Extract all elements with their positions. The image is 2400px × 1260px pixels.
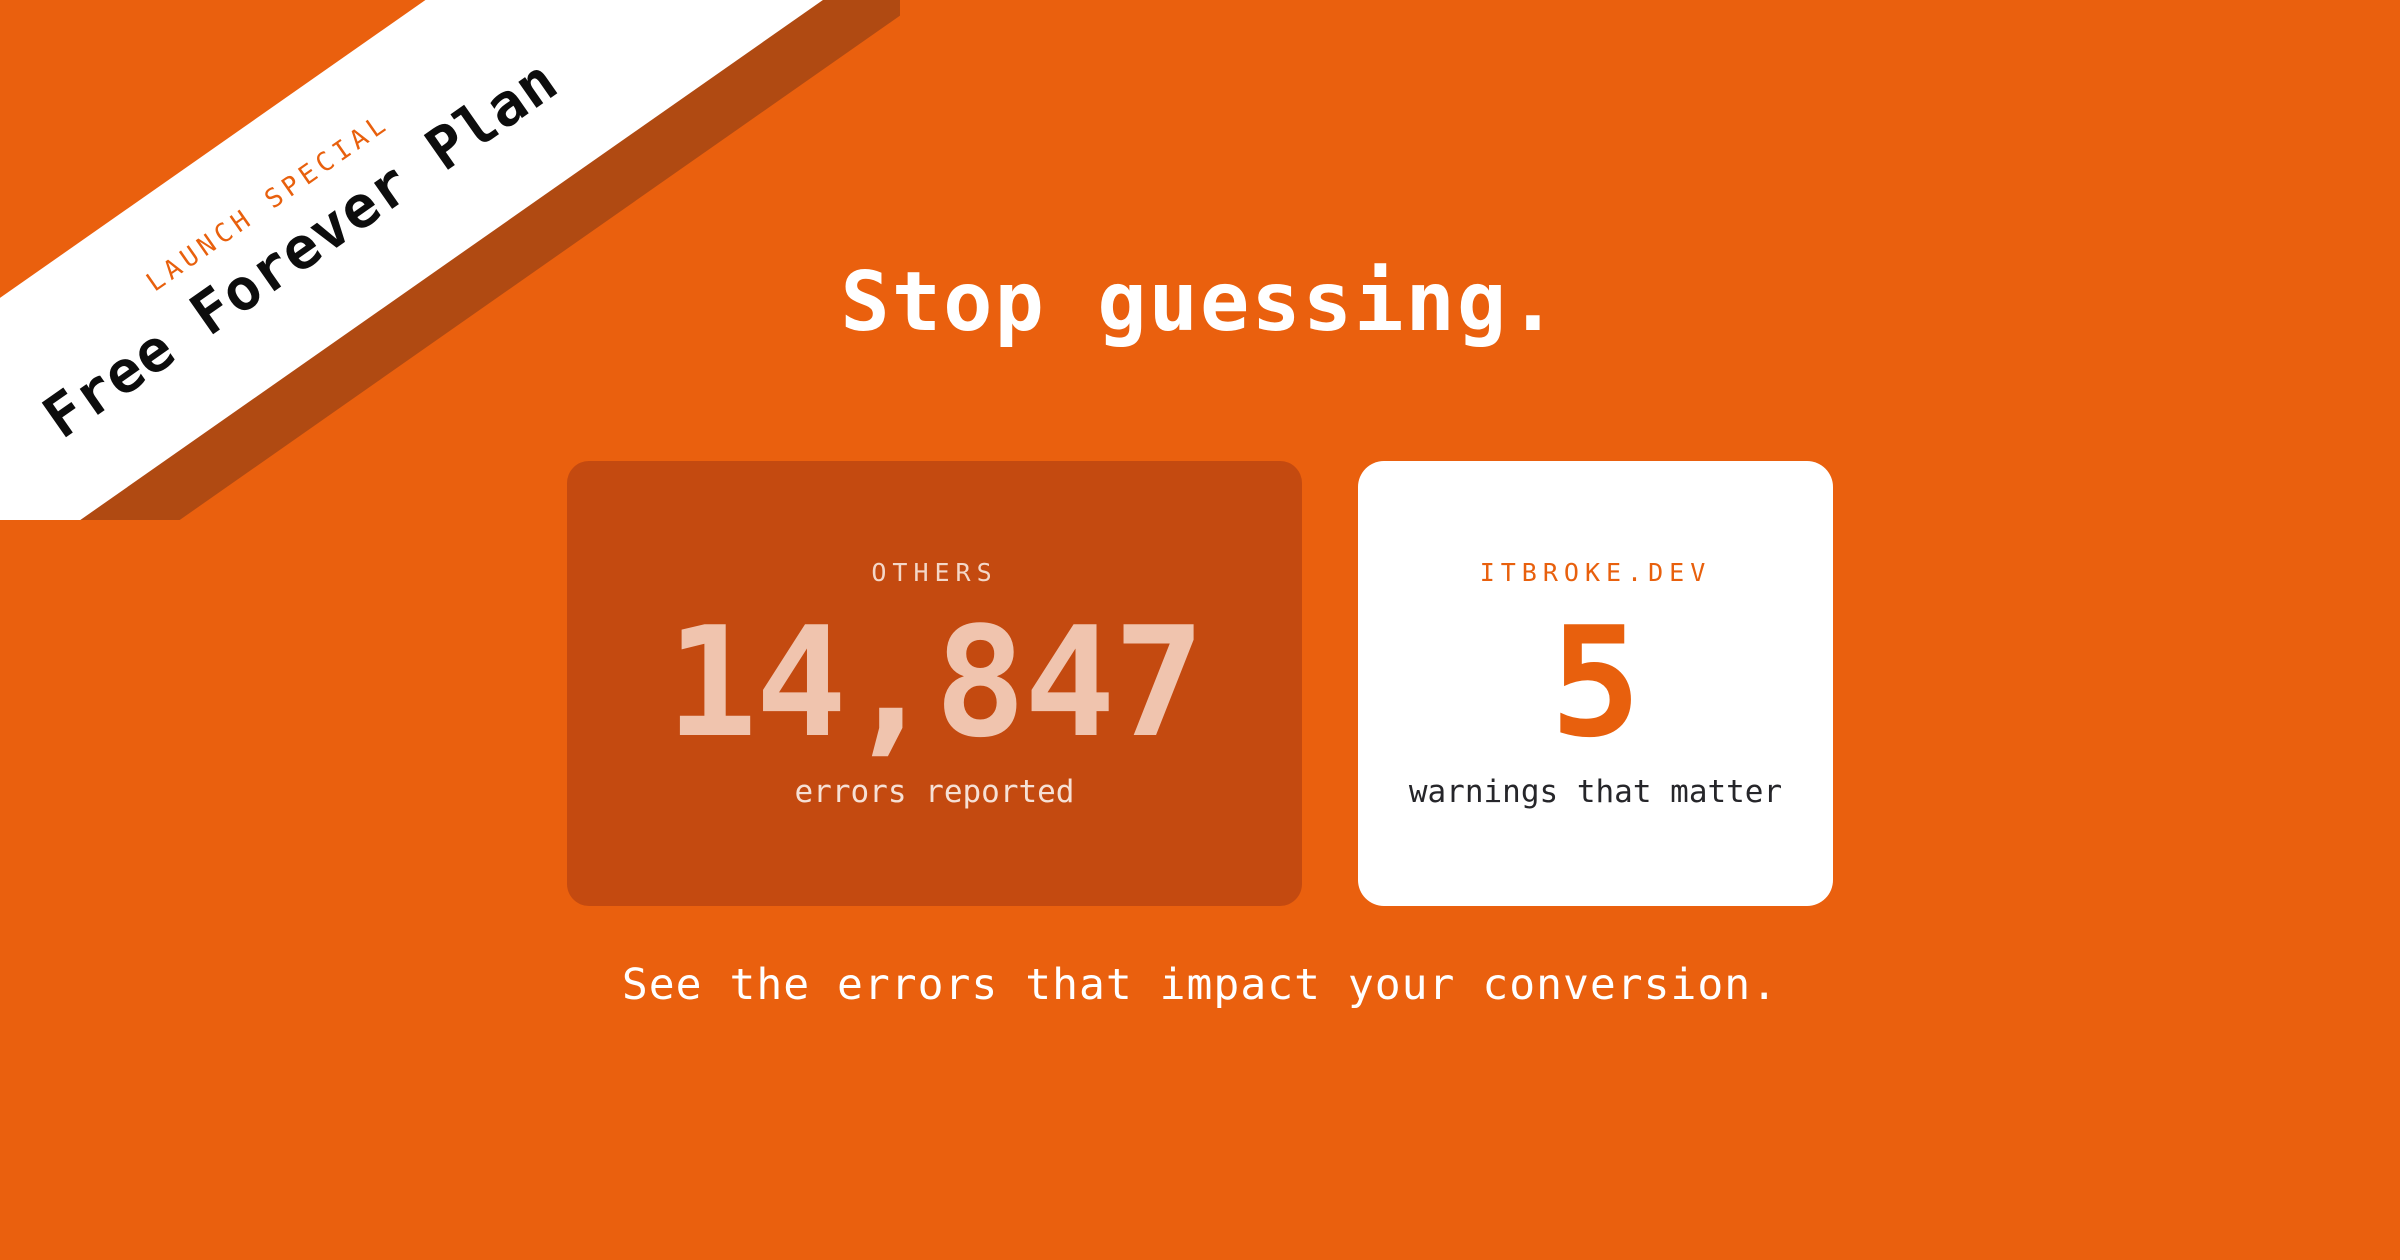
stat-card-label: ITBROKE.DEV xyxy=(1480,560,1712,585)
stat-card-caption: warnings that matter xyxy=(1409,777,1782,808)
stat-card-itbroke: ITBROKE.DEV 5 warnings that matter xyxy=(1358,461,1833,906)
stat-card-group: OTHERS 14,847 errors reported ITBROKE.DE… xyxy=(567,461,1833,906)
hero-tagline: See the errors that impact your conversi… xyxy=(622,964,1778,1007)
stat-card-value: 5 xyxy=(1550,607,1642,759)
stat-card-caption: errors reported xyxy=(795,777,1075,808)
hero-content: Stop guessing. OTHERS 14,847 errors repo… xyxy=(0,0,2400,1260)
stat-card-value: 14,847 xyxy=(666,607,1203,759)
hero-section: LAUNCH SPECIAL Free Forever Plan Stop gu… xyxy=(0,0,2400,1260)
page-title: Stop guessing. xyxy=(840,262,1559,344)
stat-card-others: OTHERS 14,847 errors reported xyxy=(567,461,1302,906)
stat-card-label: OTHERS xyxy=(871,560,997,585)
